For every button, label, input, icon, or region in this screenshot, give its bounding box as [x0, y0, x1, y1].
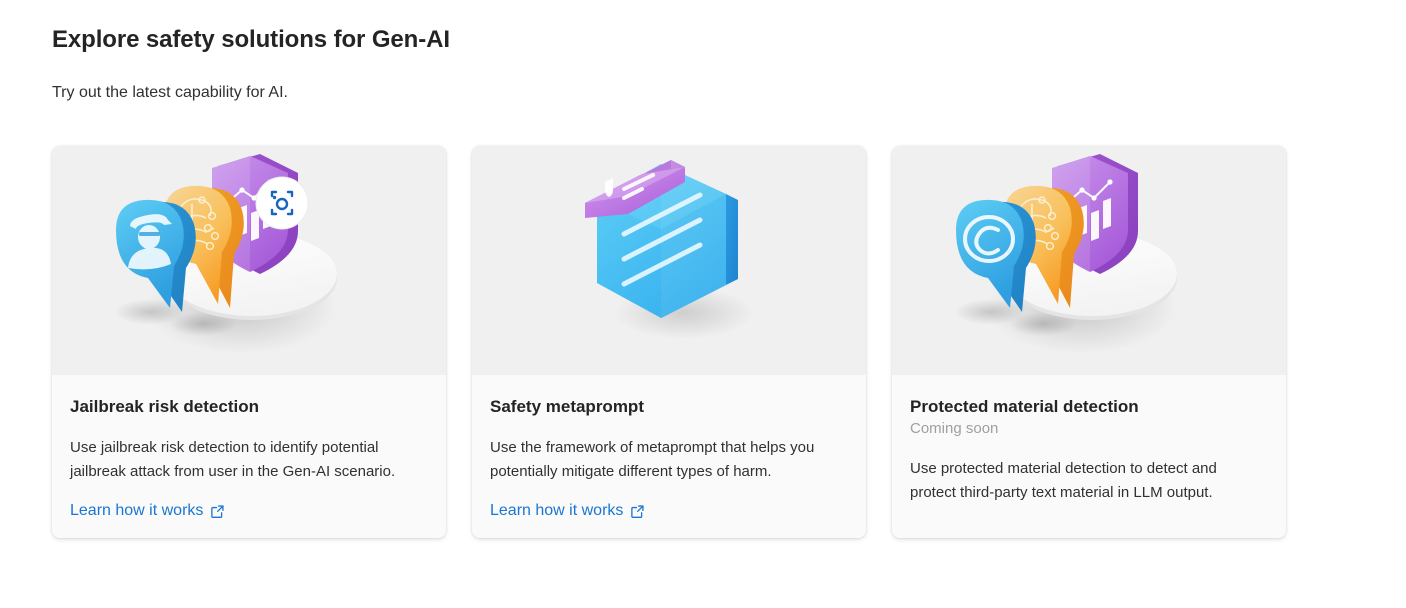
card-title: Safety metaprompt — [490, 395, 848, 418]
shield-bubbles-spy-illustration — [52, 146, 446, 375]
learn-how-it-works-label: Learn how it works — [490, 502, 623, 520]
card-description: Use jailbreak risk detection to identify… — [70, 436, 410, 484]
card-body: Jailbreak risk detection Use jailbreak r… — [52, 375, 446, 538]
solution-card-safety-metaprompt[interactable]: Safety metaprompt Use the framework of m… — [472, 146, 866, 538]
page-title: Explore safety solutions for Gen-AI — [52, 24, 1406, 56]
page-subtitle: Try out the latest capability for AI. — [52, 82, 1406, 104]
shield-bubbles-copyright-illustration — [892, 146, 1286, 375]
card-illustration-area — [472, 146, 866, 375]
solution-card-jailbreak-risk-detection[interactable]: Jailbreak risk detection Use jailbreak r… — [52, 146, 446, 538]
learn-how-it-works-link[interactable]: Learn how it works — [490, 484, 645, 520]
external-link-icon — [630, 504, 645, 519]
external-link-icon — [210, 504, 225, 519]
card-description: Use protected material detection to dete… — [910, 457, 1250, 505]
status-badge: Coming soon — [910, 419, 1268, 439]
learn-how-it-works-link[interactable]: Learn how it works — [70, 484, 225, 520]
card-body: Safety metaprompt Use the framework of m… — [472, 375, 866, 538]
card-illustration-area — [892, 146, 1286, 375]
learn-how-it-works-label: Learn how it works — [70, 502, 203, 520]
document-shield-illustration — [472, 146, 866, 375]
solution-cards-grid: Jailbreak risk detection Use jailbreak r… — [52, 146, 1406, 538]
card-body: Protected material detection Coming soon… — [892, 375, 1286, 538]
card-title: Protected material detection — [910, 395, 1268, 418]
explore-safety-solutions-page: Explore safety solutions for Gen-AI Try … — [0, 0, 1406, 538]
card-title: Jailbreak risk detection — [70, 395, 428, 418]
solution-card-protected-material-detection[interactable]: Protected material detection Coming soon… — [892, 146, 1286, 538]
card-illustration-area — [52, 146, 446, 375]
card-description: Use the framework of metaprompt that hel… — [490, 436, 830, 484]
